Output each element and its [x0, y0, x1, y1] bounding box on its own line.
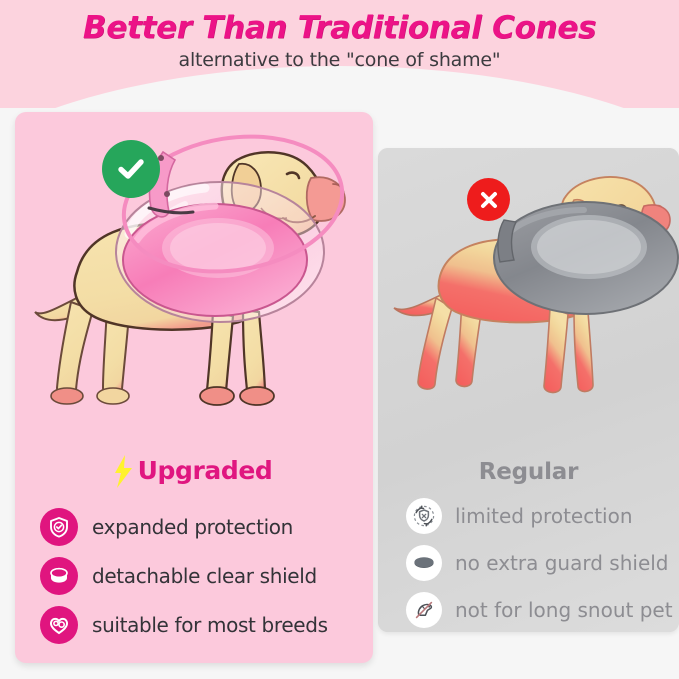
list-item: not for long snout pet: [406, 592, 676, 628]
regular-heading: Regular: [378, 459, 679, 485]
list-item-label: not for long snout pet: [455, 598, 673, 622]
header-banner: Better Than Traditional Cones alternativ…: [0, 0, 679, 108]
no-snout-icon: [406, 592, 442, 628]
list-item-label: detachable clear shield: [92, 564, 317, 588]
x-badge: [467, 178, 510, 221]
regular-dog-illustration: [378, 148, 679, 438]
upgraded-heading: Upgraded: [15, 456, 373, 485]
shield-blocked-icon: [406, 498, 442, 534]
check-icon: [114, 152, 148, 186]
header-curve-divider: [0, 66, 679, 108]
list-item-label: no extra guard shield: [455, 551, 669, 575]
list-item: detachable clear shield: [40, 557, 370, 595]
list-item: no extra guard shield: [406, 545, 676, 581]
list-item-label: expanded protection: [92, 515, 293, 539]
shield-check-icon: [40, 508, 78, 546]
upgraded-dog-illustration: [15, 112, 373, 442]
infographic-canvas: Better Than Traditional Cones alternativ…: [0, 0, 679, 679]
list-item-label: suitable for most breeds: [92, 613, 328, 637]
list-item: expanded protection: [40, 508, 370, 546]
disc-only-icon: [406, 545, 442, 581]
upgraded-feature-list: expanded protection detachable clear shi…: [40, 508, 370, 644]
regular-feature-list: limited protection no extra guard shield: [406, 498, 676, 628]
page-subtitle: alternative to the "cone of shame": [0, 49, 679, 71]
close-icon: [477, 188, 501, 212]
list-item: suitable for most breeds: [40, 606, 370, 644]
disc-collar-icon: [40, 557, 78, 595]
paw-heart-icon: [40, 606, 78, 644]
list-item-label: limited protection: [455, 504, 633, 528]
check-badge: [102, 140, 160, 198]
page-title: Better Than Traditional Cones: [0, 10, 679, 46]
list-item: limited protection: [406, 498, 676, 534]
